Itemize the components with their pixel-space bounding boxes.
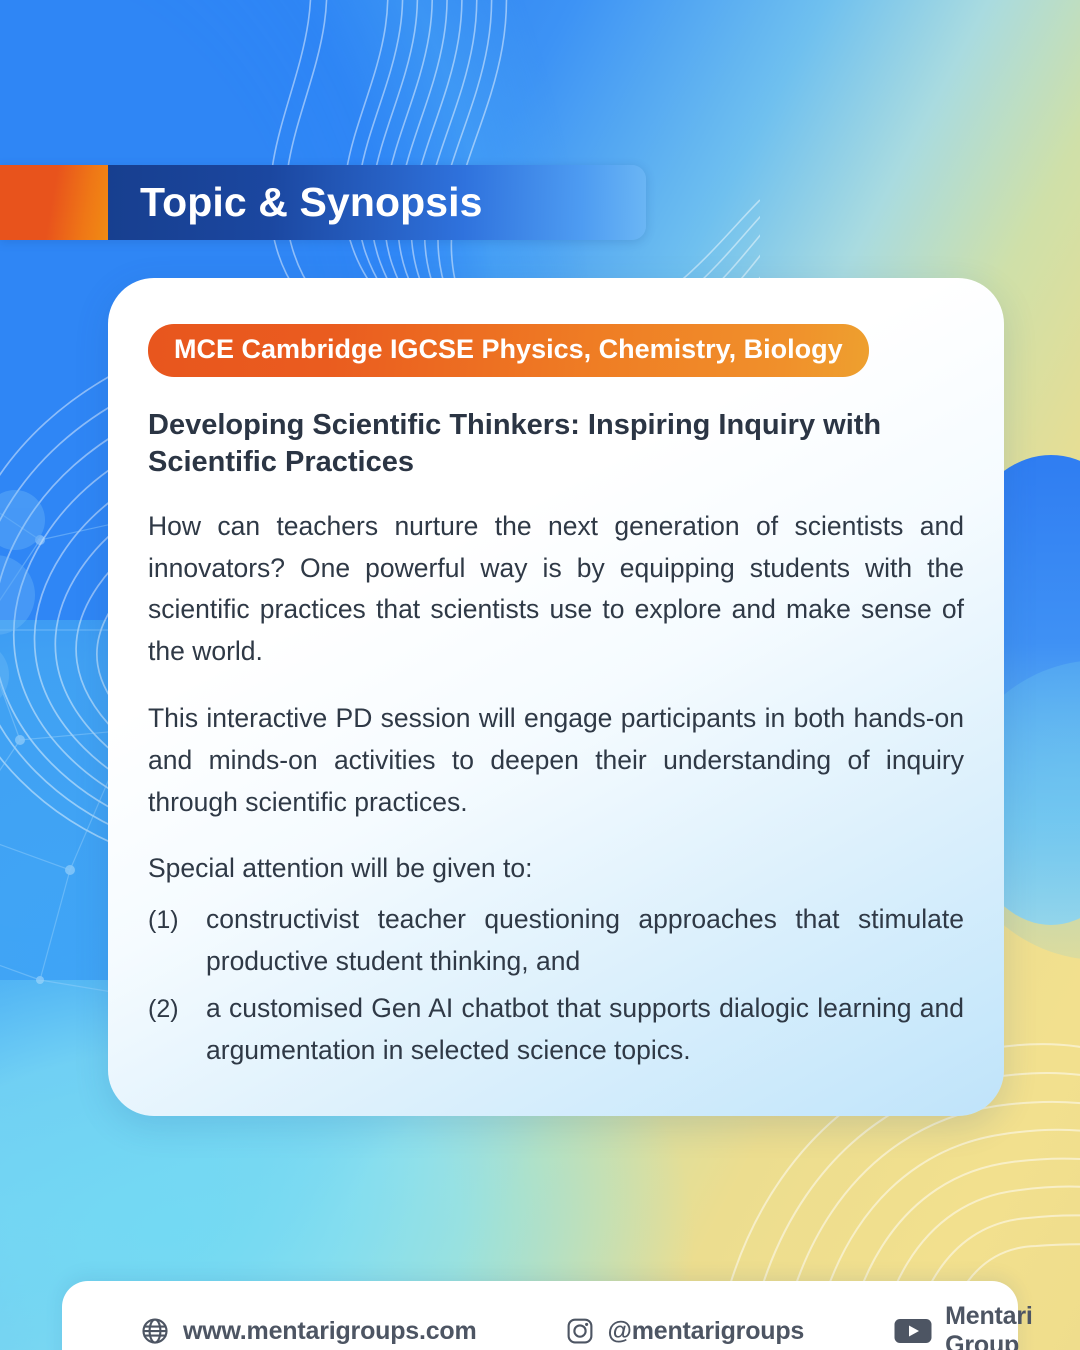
list-item-text: a customised Gen AI chatbot that support… — [206, 988, 964, 1071]
footer-website-label: www.mentarigroups.com — [183, 1317, 477, 1346]
globe-icon — [140, 1316, 170, 1346]
footer-instagram-label: @mentarigroups — [608, 1317, 805, 1346]
subject-badge: MCE Cambridge IGCSE Physics, Chemistry, … — [148, 324, 869, 377]
session-title: Developing Scientific Thinkers: Inspirin… — [148, 407, 938, 480]
list-item-marker: (1) — [148, 899, 206, 940]
synopsis-card: MCE Cambridge IGCSE Physics, Chemistry, … — [108, 278, 1004, 1116]
page-title: Topic & Synopsis — [140, 182, 483, 223]
footer-youtube-label: Mentari Group — [945, 1302, 1033, 1350]
poster-canvas: Topic & Synopsis MCE Cambridge IGCSE Phy… — [0, 0, 1080, 1350]
header-accent-block — [0, 165, 108, 240]
footer-instagram[interactable]: @mentarigroups — [565, 1316, 805, 1346]
synopsis-paragraph-1: How can teachers nurture the next genera… — [148, 506, 964, 672]
synopsis-paragraph-2: This interactive PD session will engage … — [148, 698, 964, 823]
section-header-banner: Topic & Synopsis — [0, 165, 646, 240]
list-item: (2) a customised Gen AI chatbot that sup… — [148, 988, 964, 1071]
list-item-text: constructivist teacher questioning appro… — [206, 899, 964, 982]
footer-bar: www.mentarigroups.com @mentarigroups Men… — [62, 1281, 1018, 1350]
youtube-icon — [894, 1317, 932, 1345]
footer-youtube[interactable]: Mentari Group — [894, 1302, 1033, 1350]
header-banner-body: Topic & Synopsis — [108, 165, 646, 240]
list-lead-in: Special attention will be given to: — [148, 849, 964, 889]
focus-points-list: (1) constructivist teacher questioning a… — [148, 899, 964, 1071]
footer-website[interactable]: www.mentarigroups.com — [140, 1316, 477, 1346]
instagram-icon — [565, 1316, 595, 1346]
list-item-marker: (2) — [148, 988, 206, 1029]
list-item: (1) constructivist teacher questioning a… — [148, 899, 964, 982]
